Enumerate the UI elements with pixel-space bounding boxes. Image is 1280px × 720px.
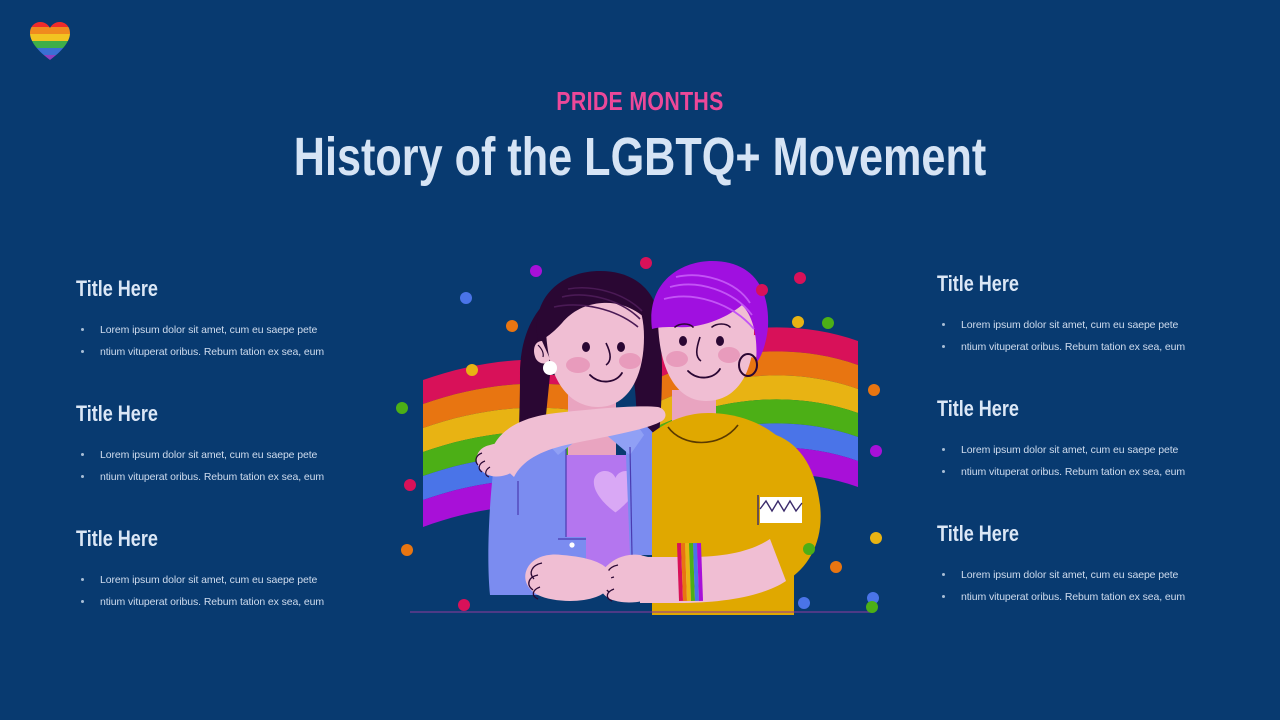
bullet-list: Lorem ipsum dolor sit amet, cum eu saepe… xyxy=(76,319,386,363)
slide-canvas: PRIDE MONTHS History of the LGBTQ+ Movem… xyxy=(0,0,1280,720)
left-content-column: Title Here Lorem ipsum dolor sit amet, c… xyxy=(76,276,386,651)
bullet-dot-icon xyxy=(942,595,945,598)
block-title: Title Here xyxy=(937,521,1191,547)
list-item: Lorem ipsum dolor sit amet, cum eu saepe… xyxy=(76,569,386,591)
page-title: History of the LGBTQ+ Movement xyxy=(128,124,1152,190)
content-block: Title Here Lorem ipsum dolor sit amet, c… xyxy=(76,276,386,401)
bullet-list: Lorem ipsum dolor sit amet, cum eu saepe… xyxy=(937,564,1247,608)
eyebrow-label: PRIDE MONTHS xyxy=(115,86,1165,116)
bullet-dot-icon xyxy=(81,328,84,331)
bullet-dot-icon xyxy=(81,350,84,353)
list-item: ntium vituperat oribus. Rebum tation ex … xyxy=(76,591,386,613)
bullet-dot-icon xyxy=(81,453,84,456)
left-person-figure xyxy=(476,271,666,595)
list-item: ntium vituperat oribus. Rebum tation ex … xyxy=(937,586,1247,608)
list-item-text: Lorem ipsum dolor sit amet, cum eu saepe… xyxy=(100,324,317,336)
lgbtq-couple-illustration xyxy=(390,255,890,635)
list-item-text: ntium vituperat oribus. Rebum tation ex … xyxy=(961,591,1185,603)
bullet-dot-icon xyxy=(942,448,945,451)
list-item-text: Lorem ipsum dolor sit amet, cum eu saepe… xyxy=(961,319,1178,331)
bullet-dot-icon xyxy=(942,573,945,576)
list-item-text: Lorem ipsum dolor sit amet, cum eu saepe… xyxy=(100,574,317,586)
content-block: Title Here Lorem ipsum dolor sit amet, c… xyxy=(937,521,1247,646)
slide-header: PRIDE MONTHS History of the LGBTQ+ Movem… xyxy=(0,86,1280,190)
bullet-dot-icon xyxy=(942,470,945,473)
list-item: Lorem ipsum dolor sit amet, cum eu saepe… xyxy=(76,444,386,466)
list-item: Lorem ipsum dolor sit amet, cum eu saepe… xyxy=(937,439,1247,461)
bullet-dot-icon xyxy=(942,345,945,348)
block-title: Title Here xyxy=(76,401,330,427)
list-item: ntium vituperat oribus. Rebum tation ex … xyxy=(937,336,1247,358)
list-item: ntium vituperat oribus. Rebum tation ex … xyxy=(76,341,386,363)
list-item: Lorem ipsum dolor sit amet, cum eu saepe… xyxy=(937,564,1247,586)
list-item: Lorem ipsum dolor sit amet, cum eu saepe… xyxy=(937,314,1247,336)
list-item-text: ntium vituperat oribus. Rebum tation ex … xyxy=(100,346,324,358)
list-item: Lorem ipsum dolor sit amet, cum eu saepe… xyxy=(76,319,386,341)
list-item: ntium vituperat oribus. Rebum tation ex … xyxy=(76,466,386,488)
bullet-list: Lorem ipsum dolor sit amet, cum eu saepe… xyxy=(937,314,1247,358)
bullet-dot-icon xyxy=(81,600,84,603)
list-item: ntium vituperat oribus. Rebum tation ex … xyxy=(937,461,1247,483)
bullet-dot-icon xyxy=(81,475,84,478)
block-title: Title Here xyxy=(76,526,330,552)
bullet-list: Lorem ipsum dolor sit amet, cum eu saepe… xyxy=(937,439,1247,483)
block-title: Title Here xyxy=(76,276,330,302)
list-item-text: Lorem ipsum dolor sit amet, cum eu saepe… xyxy=(100,449,317,461)
list-item-text: Lorem ipsum dolor sit amet, cum eu saepe… xyxy=(961,444,1178,456)
content-block: Title Here Lorem ipsum dolor sit amet, c… xyxy=(937,271,1247,396)
right-content-column: Title Here Lorem ipsum dolor sit amet, c… xyxy=(937,271,1247,646)
rainbow-wristband xyxy=(677,543,703,601)
list-item-text: ntium vituperat oribus. Rebum tation ex … xyxy=(961,466,1185,478)
list-item-text: ntium vituperat oribus. Rebum tation ex … xyxy=(961,341,1185,353)
content-block: Title Here Lorem ipsum dolor sit amet, c… xyxy=(76,401,386,526)
bullet-list: Lorem ipsum dolor sit amet, cum eu saepe… xyxy=(76,569,386,613)
list-item-text: ntium vituperat oribus. Rebum tation ex … xyxy=(100,471,324,483)
bullet-dot-icon xyxy=(942,323,945,326)
rainbow-heart-logo xyxy=(28,20,72,62)
bullet-dot-icon xyxy=(81,578,84,581)
block-title: Title Here xyxy=(937,396,1191,422)
list-item-text: Lorem ipsum dolor sit amet, cum eu saepe… xyxy=(961,569,1178,581)
bullet-list: Lorem ipsum dolor sit amet, cum eu saepe… xyxy=(76,444,386,488)
content-block: Title Here Lorem ipsum dolor sit amet, c… xyxy=(937,396,1247,521)
block-title: Title Here xyxy=(937,271,1191,297)
content-block: Title Here Lorem ipsum dolor sit amet, c… xyxy=(76,526,386,651)
list-item-text: ntium vituperat oribus. Rebum tation ex … xyxy=(100,596,324,608)
